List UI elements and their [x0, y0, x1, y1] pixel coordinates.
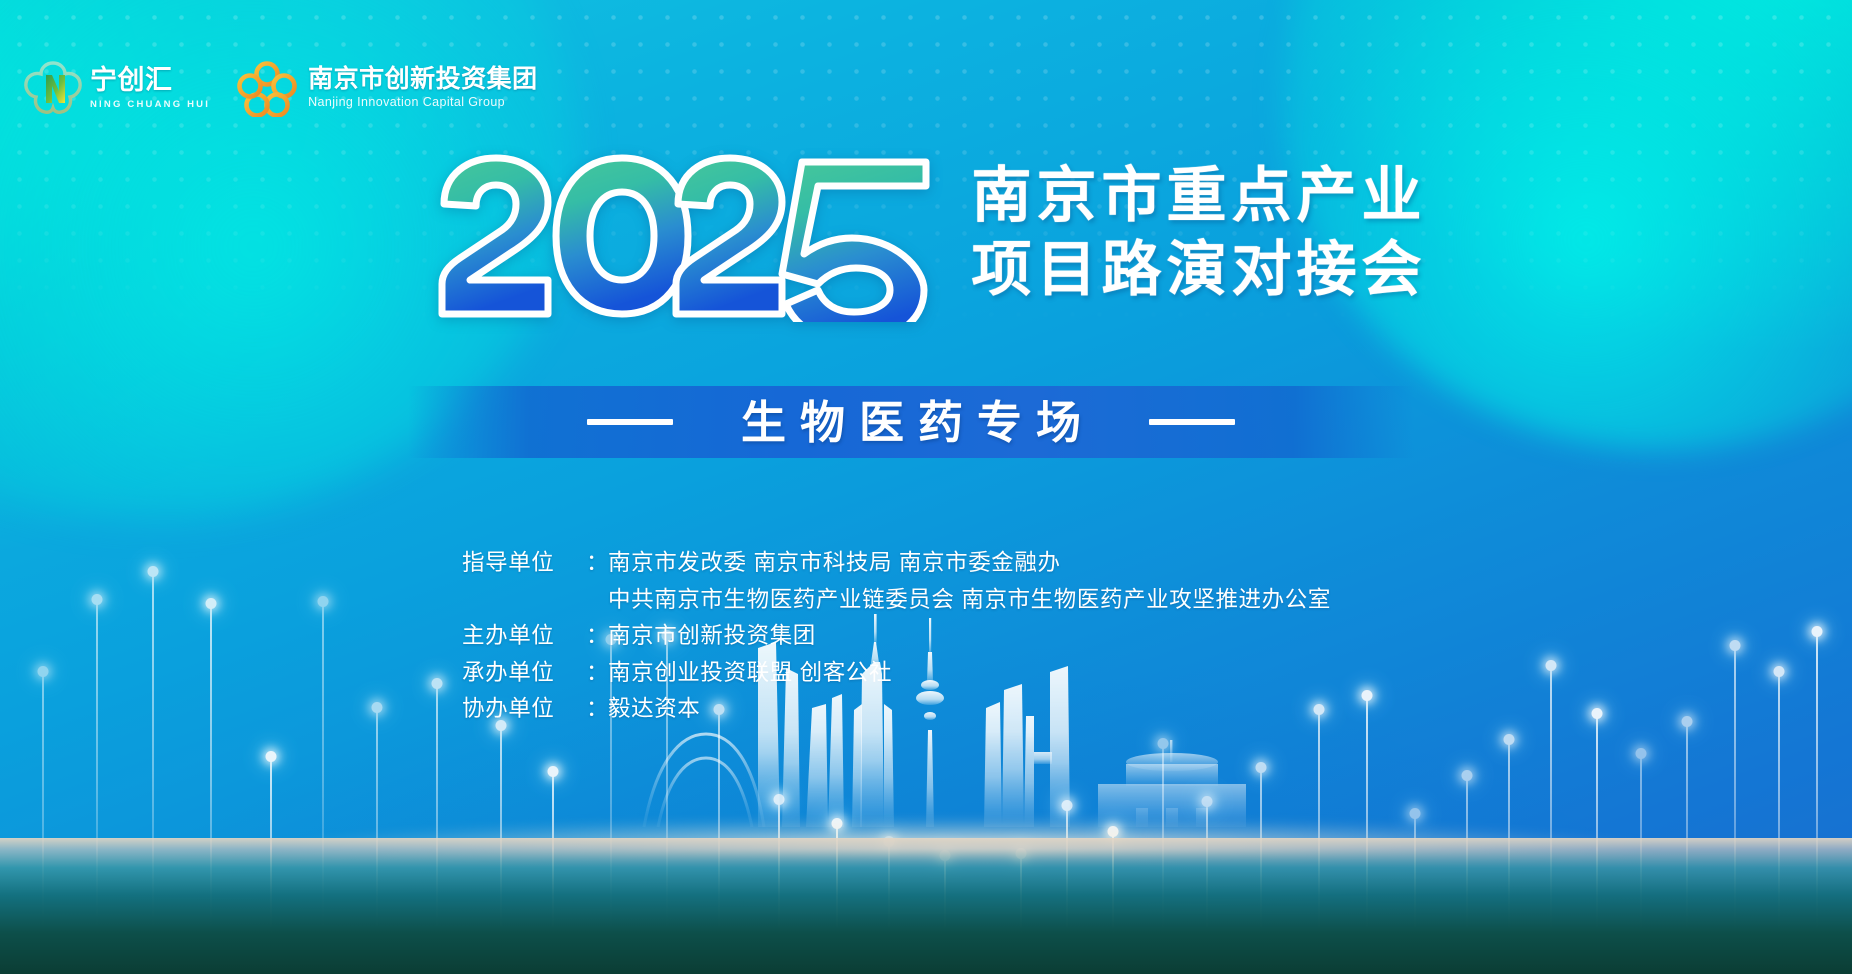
credit-colon: ： [586, 618, 608, 655]
credit-label: 指导单位 [462, 545, 586, 582]
subtitle-banner: 生物医药专场 [408, 386, 1414, 458]
credit-row-guidance: 指导单位 ： 南京市发改委 南京市科技局 南京市委金融办 [462, 545, 1562, 582]
credit-colon: ： [586, 655, 608, 692]
plum-blossom-n-logo-icon [22, 58, 84, 118]
credit-colon: ： [586, 691, 608, 728]
credit-row-coorganizer: 协办单位 ： 毅达资本 [462, 691, 1562, 728]
organizer-credits: 指导单位 ： 南京市发改委 南京市科技局 南京市委金融办 中共南京市生物医药产业… [462, 545, 1562, 728]
title-chinese-lines: 南京市重点产业 项目路演对接会 [972, 152, 1427, 304]
logo-en-label: Nanjing Innovation Capital Group [308, 95, 538, 109]
year-2025-svg [426, 152, 946, 322]
poster-canvas: 宁创汇 NING CHUANG HUI [0, 0, 1852, 974]
credit-label: 协办单位 [462, 691, 586, 728]
credit-value: 毅达资本 [608, 691, 1562, 728]
interlocked-plum-blossom-logo-icon [236, 59, 298, 117]
logo-nanjing-innovation-capital: 南京市创新投资集团 Nanjing Innovation Capital Gro… [236, 59, 538, 117]
subtitle-banner-inner: 生物医药专场 [408, 386, 1414, 458]
title-line-1: 南京市重点产业 [972, 161, 1427, 231]
credit-value: 南京市发改委 南京市科技局 南京市委金融办 [608, 545, 1562, 582]
credit-continuation-guidance: 中共南京市生物医药产业链委员会 南京市生物医药产业攻坚推进办公室 [462, 582, 1562, 619]
logo-cn-label: 宁创汇 [90, 67, 210, 94]
logo-bar: 宁创汇 NING CHUANG HUI [22, 58, 538, 118]
logo-en-label: NING CHUANG HUI [90, 99, 210, 110]
ground-plane [0, 838, 1852, 974]
logo-ning-chuang-hui-text: 宁创汇 NING CHUANG HUI [90, 67, 210, 110]
logo-nanjing-innovation-capital-text: 南京市创新投资集团 Nanjing Innovation Capital Gro… [308, 67, 538, 109]
title-line-2: 项目路演对接会 [972, 235, 1427, 305]
credit-label: 承办单位 [462, 655, 586, 692]
year-2025-graphic [426, 152, 946, 322]
credit-label: 主办单位 [462, 618, 586, 655]
banner-left-dash-icon [587, 419, 673, 425]
banner-right-dash-icon [1149, 419, 1235, 425]
logo-cn-label: 南京市创新投资集团 [308, 67, 538, 92]
logo-ning-chuang-hui: 宁创汇 NING CHUANG HUI [22, 58, 210, 118]
credit-colon: ： [586, 545, 608, 582]
credit-value: 南京市创新投资集团 [608, 618, 1562, 655]
credit-row-organizer: 承办单位 ： 南京创业投资联盟 创客公社 [462, 655, 1562, 692]
main-title: 南京市重点产业 项目路演对接会 [0, 152, 1852, 322]
credit-value: 南京创业投资联盟 创客公社 [608, 655, 1562, 692]
credit-row-host: 主办单位 ： 南京市创新投资集团 [462, 618, 1562, 655]
banner-text: 生物医药专场 [727, 400, 1095, 445]
